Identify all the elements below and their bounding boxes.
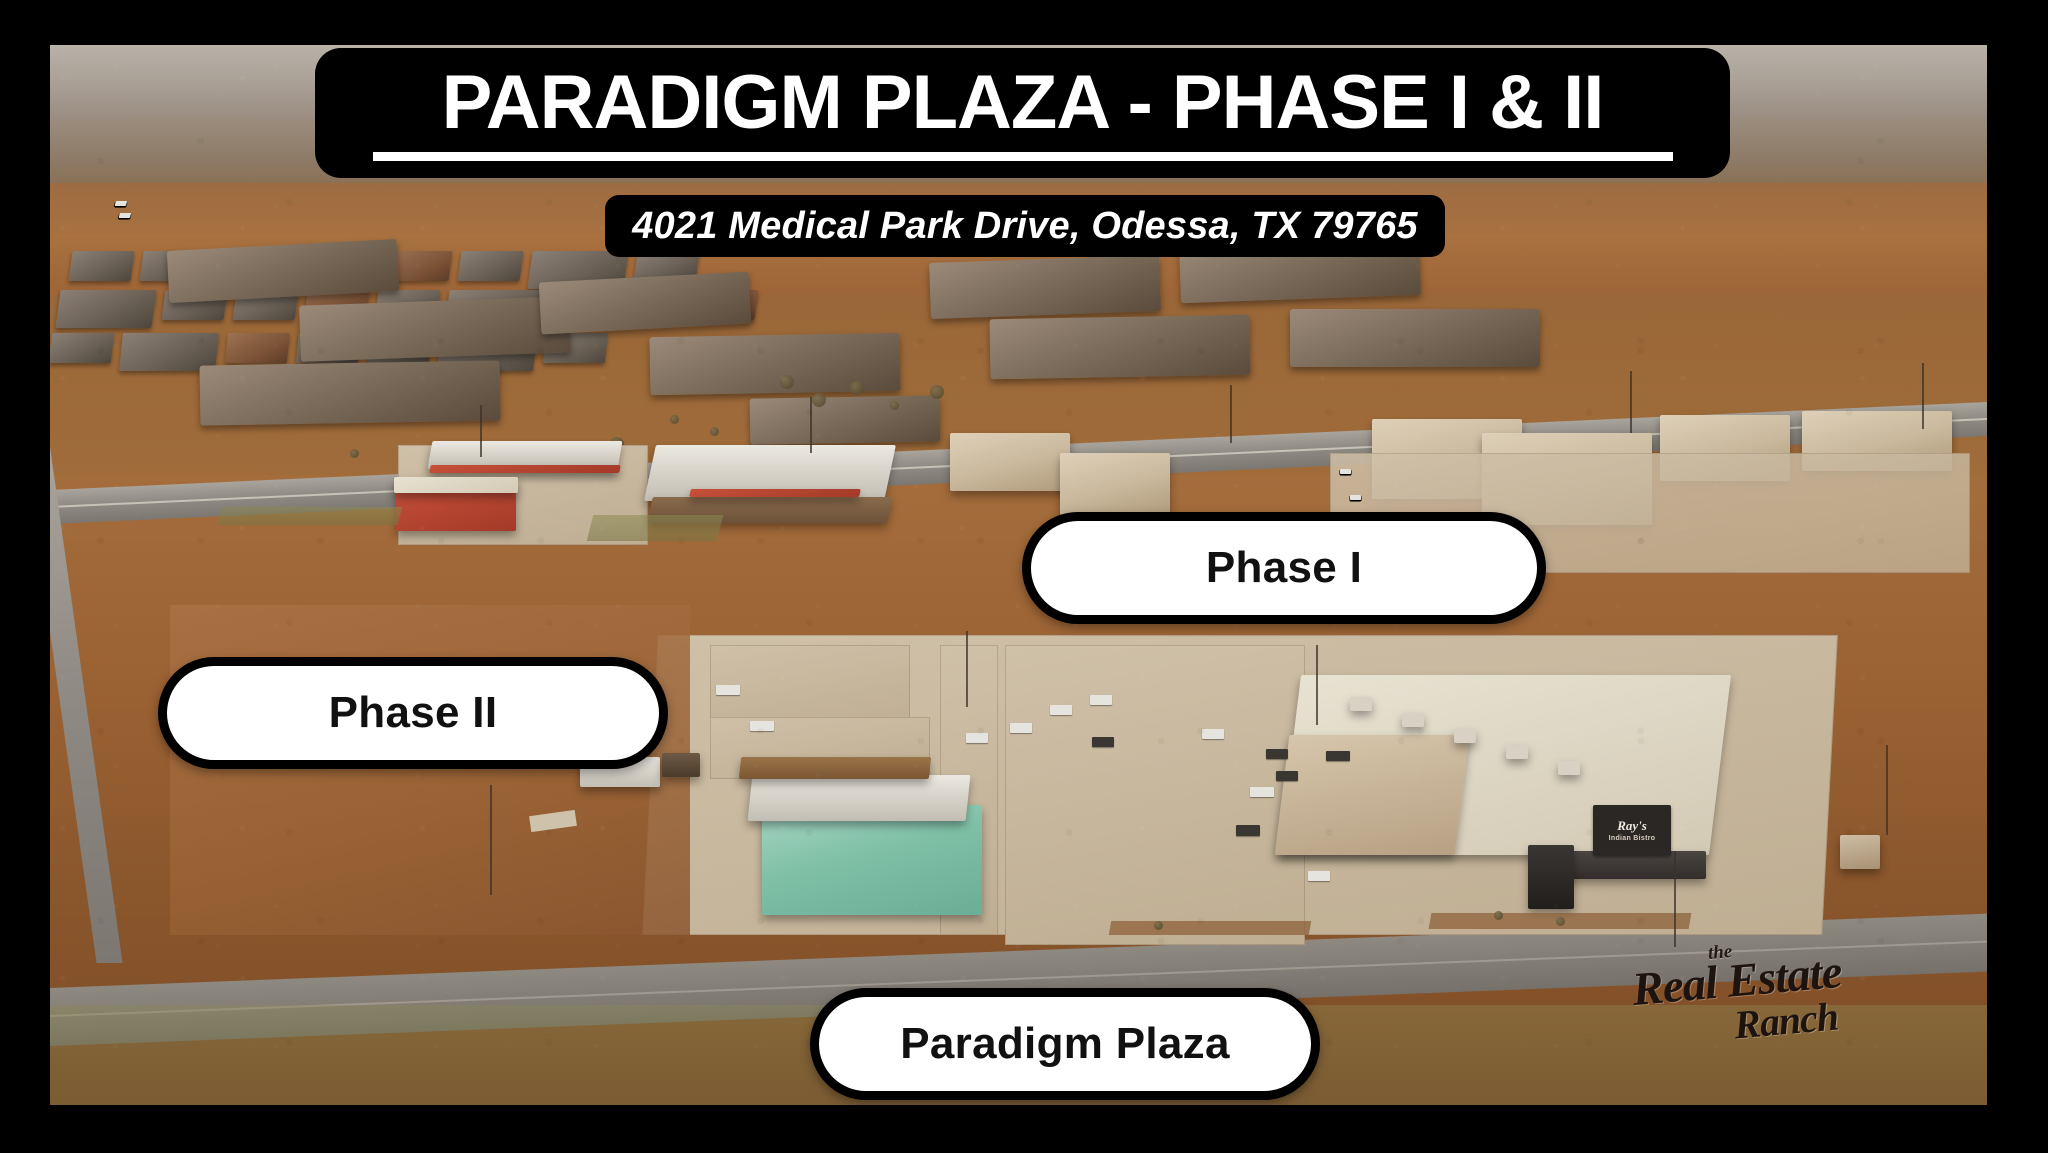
callout-phase-1[interactable]: Phase I [1022,512,1546,624]
poster-canvas: Ray's Indian Bistro PARADIGM PLAZA - PHA… [0,0,2048,1153]
rays-tenant-sign: Ray's Indian Bistro [1593,805,1671,855]
callout-paradigm-plaza-label: Paradigm Plaza [900,1019,1229,1069]
rays-sign-subtitle: Indian Bistro [1609,835,1656,842]
title-underline-rule [373,152,1673,161]
callout-phase-2[interactable]: Phase II [158,657,668,769]
address-banner: 4021 Medical Park Drive, Odessa, TX 7976… [605,195,1445,257]
property-address: 4021 Medical Park Drive, Odessa, TX 7976… [632,205,1418,248]
page-title: PARADIGM PLAZA - PHASE I & II [442,65,1604,141]
callout-paradigm-plaza[interactable]: Paradigm Plaza [810,988,1320,1100]
callout-phase-1-label: Phase I [1206,543,1362,593]
callout-phase-2-label: Phase II [329,688,498,738]
title-banner: PARADIGM PLAZA - PHASE I & II [315,48,1730,178]
rays-sign-name: Ray's [1617,819,1647,832]
